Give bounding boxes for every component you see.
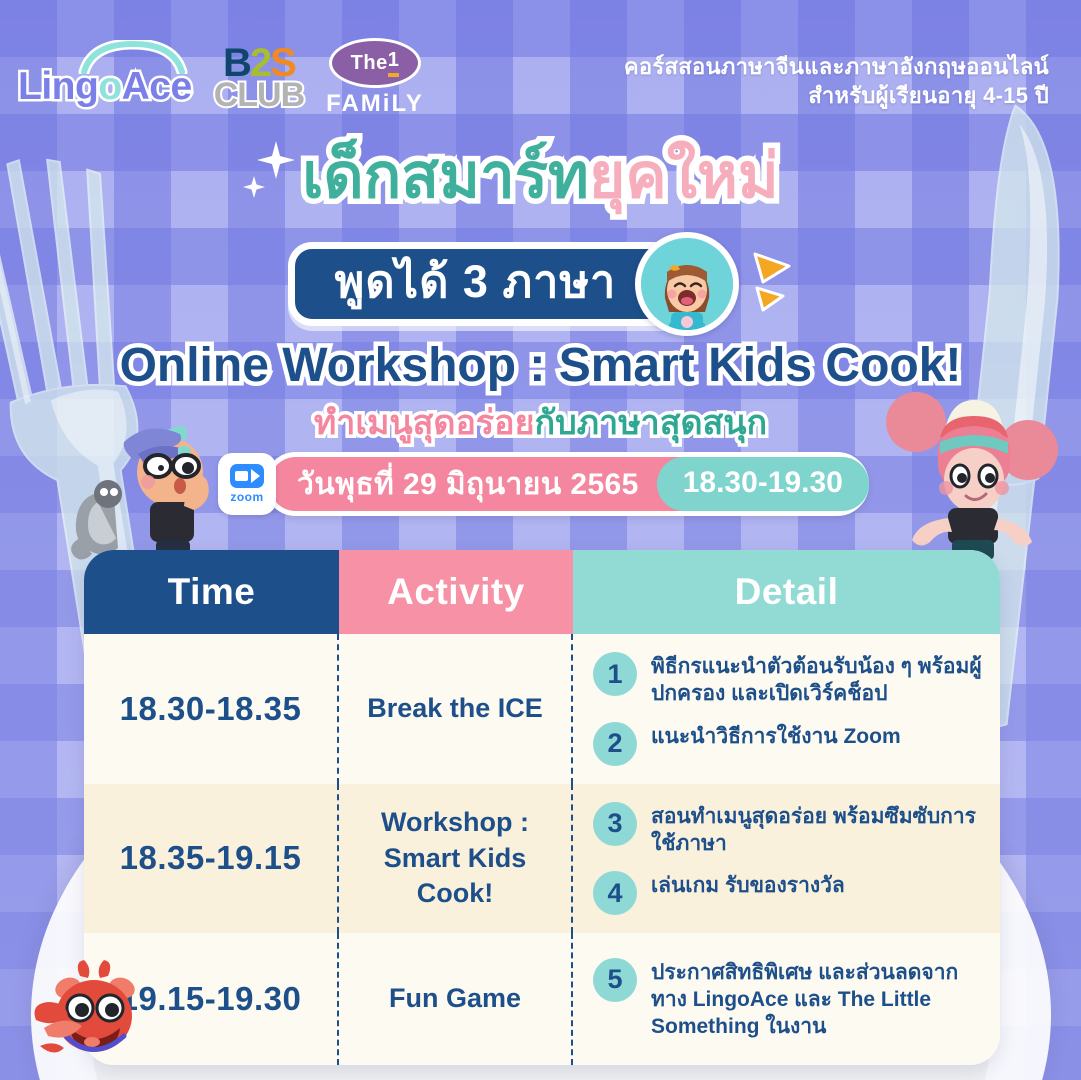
lobster-illustration [34, 958, 154, 1068]
row-activity: Fun Game [339, 933, 573, 1065]
the1-family-text: FAMiLY [326, 90, 424, 118]
brand-logo-row: LingoAce B2S CLUB The1 FAMiLY [18, 38, 424, 118]
tagline-line-2: สำหรับผู้เรียนอายุ 4-15 ปี [624, 81, 1049, 110]
row-detail: 3 สอนทำเมนูสุดอร่อย พร้อมซึมซับการใช้ภาษ… [573, 784, 1000, 934]
lingoace-wordmark: LingoAce [18, 67, 192, 106]
the1-the: The [351, 52, 388, 75]
detail-text: แนะนำวิธีการใช้งาน Zoom [651, 722, 901, 750]
workshop-sub-pink: ทำเมนูสุดอร่อย [314, 404, 535, 442]
detail-text: เล่นเกม รับของรางวัล [651, 871, 845, 899]
headline-badge: พูดได้ 3 ภาษา [288, 242, 688, 325]
header-activity: Activity [339, 550, 573, 634]
course-tagline: คอร์สสอนภาษาจีนและภาษาอังกฤษออนไลน์ สำหร… [624, 52, 1049, 111]
workshop-sub-teal: กับภาษาสุดสนุก [535, 404, 768, 442]
headline-pink-text: ยุคใหม่ [589, 142, 779, 211]
table-header-row: Time Activity Detail [84, 550, 1000, 634]
zoom-label: zoom [230, 490, 263, 504]
orange-accent-triangles [749, 252, 793, 316]
detail-item: 5 ประกาศสิทธิพิเศษ และส่วนลดจากทาง Lingo… [593, 958, 982, 1041]
row-time: 18.30-18.35 [84, 634, 339, 784]
headline-badge-row: พูดได้ 3 ภาษา [0, 232, 1081, 336]
table-row: 19.15-19.30 Fun Game 5 ประกาศสิทธิพิเศษ … [84, 933, 1000, 1065]
poster-canvas: LingoAce B2S CLUB The1 FAMiLY คอร์สสอนภา… [0, 0, 1081, 1080]
detail-number-badge: 4 [593, 871, 637, 915]
detail-number-badge: 2 [593, 722, 637, 766]
b2s-club-logo: B2S CLUB [214, 46, 304, 110]
detail-text: ประกาศสิทธิพิเศษ และส่วนลดจากทาง LingoAc… [651, 958, 982, 1041]
chef-girl-illustration [872, 382, 1072, 562]
kid-avatar [635, 232, 739, 336]
schedule-bar: zoom วันพุธที่ 29 มิถุนายน 2565 18.30-19… [218, 452, 869, 516]
lingoace-text-2: Ace [122, 65, 192, 108]
agenda-table: Time Activity Detail 18.30-18.35 Break t… [84, 550, 1000, 1065]
tagline-line-1: คอร์สสอนภาษาจีนและภาษาอังกฤษออนไลน์ [624, 52, 1049, 81]
happy-girl-icon [641, 238, 733, 330]
triangle-icon [749, 252, 793, 316]
row-detail: 1 พิธีกรแนะนำตัวต้อนรับน้อง ๆ พร้อมผู้ปก… [573, 634, 1000, 784]
detail-number-badge: 3 [593, 802, 637, 846]
row-time: 18.35-19.15 [84, 784, 339, 934]
detail-text: สอนทำเมนูสุดอร่อย พร้อมซึมซับการใช้ภาษา [651, 802, 982, 858]
row-activity: Break the ICE [339, 634, 573, 784]
row-detail: 5 ประกาศสิทธิพิเศษ และส่วนลดจากทาง Lingo… [573, 933, 1000, 1065]
detail-text: พิธีกรแนะนำตัวต้อนรับน้อง ๆ พร้อมผู้ปกคร… [651, 652, 982, 708]
detail-item: 2 แนะนำวิธีการใช้งาน Zoom [593, 722, 982, 766]
header-time: Time [84, 550, 339, 634]
detail-item: 3 สอนทำเมนูสุดอร่อย พร้อมซึมซับการใช้ภาษ… [593, 802, 982, 858]
row-activity: Workshop : Smart Kids Cook! [339, 784, 573, 934]
detail-number-badge: 5 [593, 958, 637, 1002]
detail-item: 4 เล่นเกม รับของรางวัล [593, 871, 982, 915]
event-date: วันพุธที่ 29 มิถุนายน 2565 [297, 461, 657, 508]
detail-number-badge: 1 [593, 652, 637, 696]
the1-bubble: The1 [329, 38, 421, 88]
main-headline: เด็กสมาร์ทยุคใหม่ [0, 146, 1081, 208]
zoom-logo[interactable]: zoom [218, 453, 276, 515]
the1-one: 1 [388, 49, 400, 77]
header-detail: Detail [573, 550, 1000, 634]
date-time-pill: วันพุธที่ 29 มิถุนายน 2565 18.30-19.30 [264, 452, 869, 516]
lingoace-logo: LingoAce [18, 50, 192, 106]
lingoace-text-o: o [98, 65, 121, 108]
detail-item: 1 พิธีกรแนะนำตัวต้อนรับน้อง ๆ พร้อมผู้ปก… [593, 652, 982, 708]
event-time: 18.30-19.30 [657, 457, 869, 511]
zoom-camera-icon [230, 464, 264, 488]
the1-family-logo: The1 FAMiLY [326, 38, 424, 118]
lingoace-text-1: Ling [18, 65, 98, 108]
headline-teal-text: เด็กสมาร์ท [302, 142, 589, 211]
table-row: 18.35-19.15 Workshop : Smart Kids Cook! … [84, 784, 1000, 934]
table-row: 18.30-18.35 Break the ICE 1 พิธีกรแนะนำต… [84, 634, 1000, 784]
b2s-club-text: CLUB [214, 81, 304, 110]
